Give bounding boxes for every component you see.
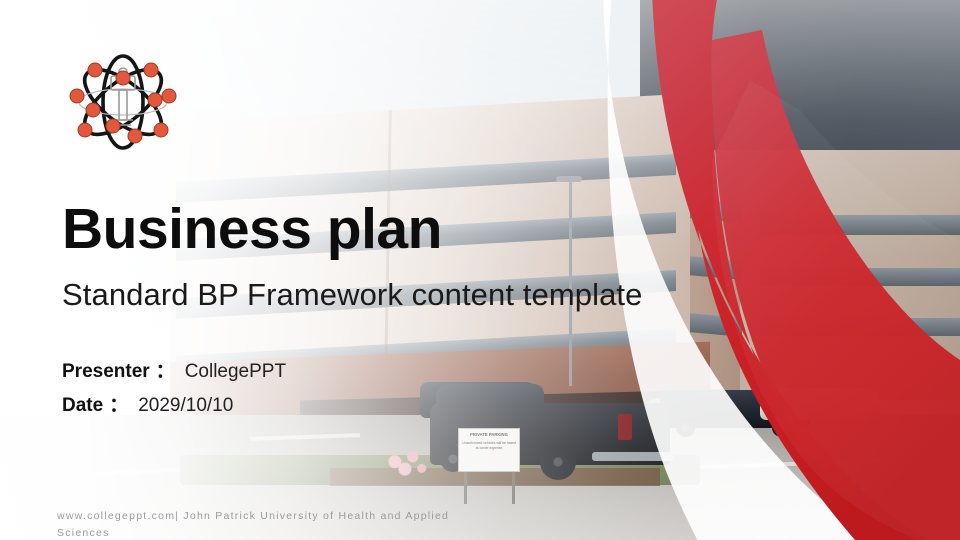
footer-credit: www.collegeppt.com| John Patrick Univers…	[57, 508, 477, 540]
slide-subtitle: Standard BP Framework content template	[62, 277, 642, 313]
date-label: Date	[62, 395, 103, 417]
presenter-separator: ：	[156, 356, 175, 383]
presenter-meta-block: Presenter ： CollegePPT Date ： 2029/10/10	[62, 356, 286, 424]
presenter-value: CollegePPT	[185, 361, 286, 383]
presenter-row: Presenter ： CollegePPT	[62, 356, 286, 383]
atom-logo	[63, 42, 183, 162]
slide-root: PRIVATE PARKING Unauthorized vehicles wi…	[0, 0, 960, 540]
date-row: Date ： 2029/10/10	[62, 390, 286, 417]
date-value: 2029/10/10	[138, 395, 233, 417]
presenter-label: Presenter	[62, 361, 150, 383]
date-separator: ：	[109, 390, 128, 417]
slide-title: Business plan	[62, 200, 442, 260]
